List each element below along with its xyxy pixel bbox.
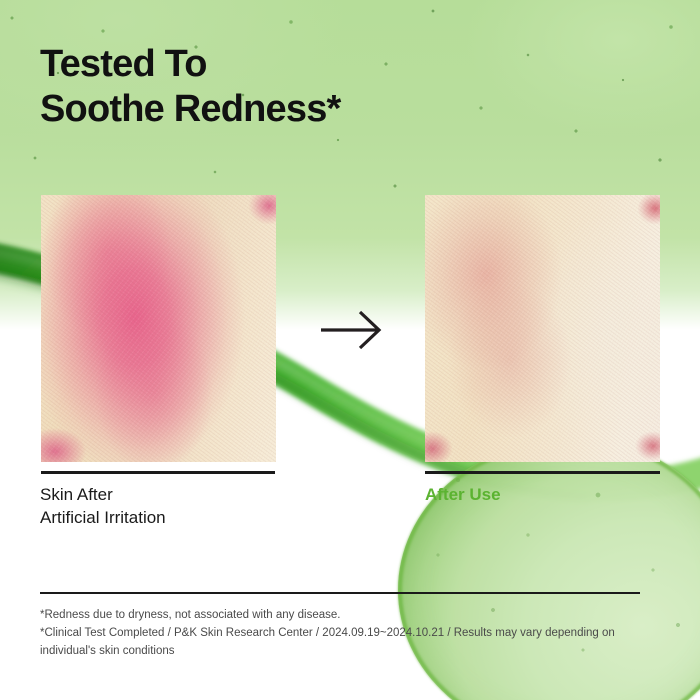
page-title: Tested To Soothe Redness* [40, 42, 341, 132]
after-skin-image [425, 195, 660, 462]
before-caption-line-2: Artificial Irritation [40, 508, 166, 527]
footer-divider [40, 592, 640, 594]
before-skin-image [41, 195, 276, 462]
before-caption-line-1: Skin After [40, 485, 113, 504]
footnotes: *Redness due to dryness, not associated … [40, 606, 648, 660]
headline-line-2: Soothe Redness* [40, 88, 341, 130]
footnote-1: *Redness due to dryness, not associated … [40, 606, 648, 624]
after-photo [425, 195, 660, 462]
headline-line-1: Tested To [40, 43, 207, 85]
after-caption: After Use [425, 484, 501, 507]
arrow-right-icon [318, 305, 386, 355]
before-caption: Skin After Artificial Irritation [40, 484, 166, 529]
before-caption-rule [41, 471, 275, 474]
after-caption-rule [425, 471, 660, 474]
ad-creative: Tested To Soothe Redness* Skin After Art… [0, 0, 700, 700]
before-photo [41, 195, 276, 462]
footnote-2: *Clinical Test Completed / P&K Skin Rese… [40, 624, 648, 660]
